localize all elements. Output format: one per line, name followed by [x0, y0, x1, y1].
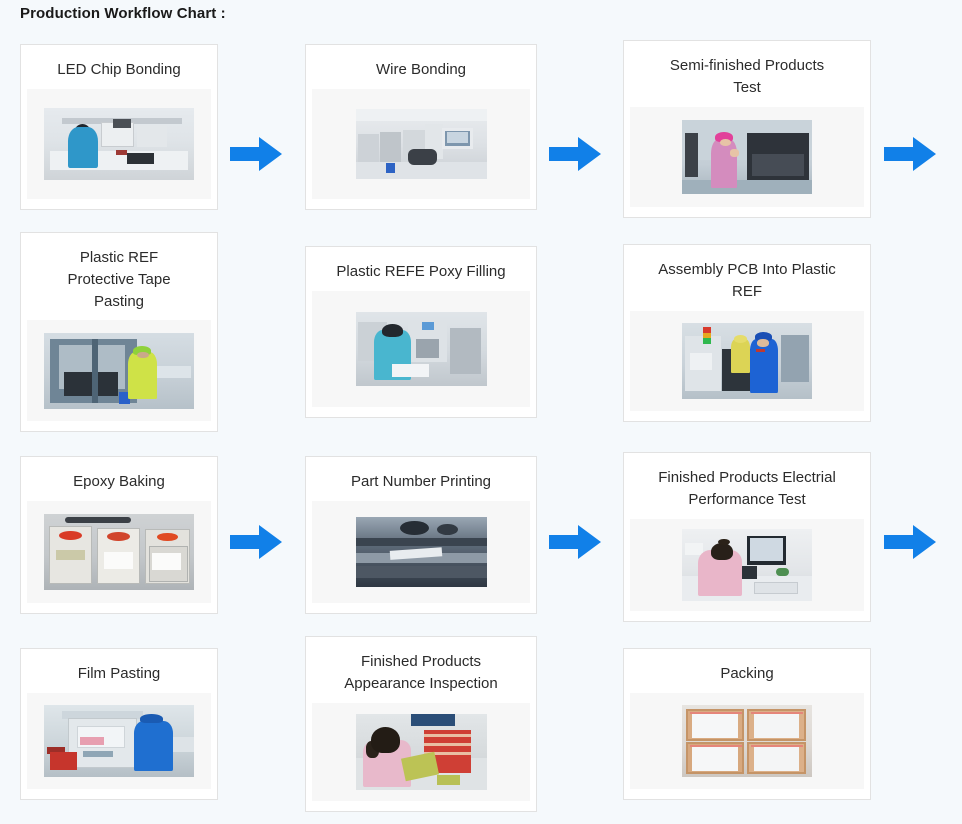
workflow-step-card[interactable]: Plastic REF Protective Tape Pasting: [20, 232, 218, 432]
workflow-step-photo-band: [630, 519, 864, 612]
part-number-printing-photo: [356, 517, 487, 587]
workflow-step-photo-band: [312, 703, 530, 802]
finished-products-electrial-performance-test-photo: [682, 529, 812, 601]
workflow-step-label: Finished Products Appearance Inspection: [312, 647, 530, 703]
workflow-step-label: Plastic REF Protective Tape Pasting: [27, 243, 211, 320]
workflow-step-label: Semi-finished Products Test: [630, 51, 864, 107]
arrow-right-icon: [549, 522, 601, 562]
workflow-step-card[interactable]: Film Pasting: [20, 648, 218, 800]
workflow-step-label: Wire Bonding: [312, 55, 530, 89]
workflow-step-photo-band: [312, 89, 530, 199]
workflow-step-card[interactable]: Finished Products Appearance Inspection: [305, 636, 537, 812]
plastic-ref-protective-tape-pasting-photo: [44, 333, 194, 409]
workflow-step-card[interactable]: Finished Products Electrial Performance …: [623, 452, 871, 622]
plastic-refe-poxy-filling-photo: [356, 312, 487, 386]
arrow-right-icon: [549, 134, 601, 174]
workflow-step-photo-band: [630, 311, 864, 412]
workflow-step-photo-band: [630, 107, 864, 208]
workflow-step-card[interactable]: Packing: [623, 648, 871, 800]
workflow-step-photo-band: [27, 693, 211, 789]
workflow-step-card[interactable]: Wire Bonding: [305, 44, 537, 210]
arrow-right-icon: [230, 522, 282, 562]
workflow-step-photo-band: [312, 501, 530, 603]
semi-finished-products-test-photo: [682, 120, 812, 194]
workflow-step-label: LED Chip Bonding: [27, 55, 211, 89]
arrow-right-icon: [884, 522, 936, 562]
wire-bonding-photo: [356, 109, 487, 179]
workflow-step-label: Epoxy Baking: [27, 467, 211, 501]
workflow-step-photo-band: [630, 693, 864, 789]
workflow-step-card[interactable]: LED Chip Bonding: [20, 44, 218, 210]
workflow-step-label: Film Pasting: [27, 659, 211, 693]
assembly-pcb-into-plastic-ref-photo: [682, 323, 812, 399]
workflow-step-label: Plastic REFE Poxy Filling: [312, 257, 530, 291]
led-chip-bonding-photo: [44, 108, 194, 180]
workflow-step-photo-band: [27, 89, 211, 199]
workflow-step-label: Part Number Printing: [312, 467, 530, 501]
workflow-step-photo-band: [27, 501, 211, 603]
workflow-step-label: Packing: [630, 659, 864, 693]
workflow-step-label: Assembly PCB Into Plastic REF: [630, 255, 864, 311]
arrow-right-icon: [230, 134, 282, 174]
workflow-step-card[interactable]: Part Number Printing: [305, 456, 537, 614]
workflow-step-photo-band: [27, 320, 211, 421]
workflow-step-card[interactable]: Semi-finished Products Test: [623, 40, 871, 218]
workflow-step-card[interactable]: Epoxy Baking: [20, 456, 218, 614]
page-title: Production Workflow Chart :: [20, 5, 226, 22]
packing-photo: [682, 705, 812, 777]
workflow-step-label: Finished Products Electrial Performance …: [630, 463, 864, 519]
workflow-step-card[interactable]: Plastic REFE Poxy Filling: [305, 246, 537, 418]
finished-products-appearance-inspection-photo: [356, 714, 487, 790]
workflow-step-photo-band: [312, 291, 530, 407]
epoxy-baking-photo: [44, 514, 194, 590]
workflow-step-card[interactable]: Assembly PCB Into Plastic REF: [623, 244, 871, 422]
production-workflow-chart-page: Production Workflow Chart : LED Chip Bon…: [0, 0, 962, 824]
arrow-right-icon: [884, 134, 936, 174]
film-pasting-photo: [44, 705, 194, 777]
